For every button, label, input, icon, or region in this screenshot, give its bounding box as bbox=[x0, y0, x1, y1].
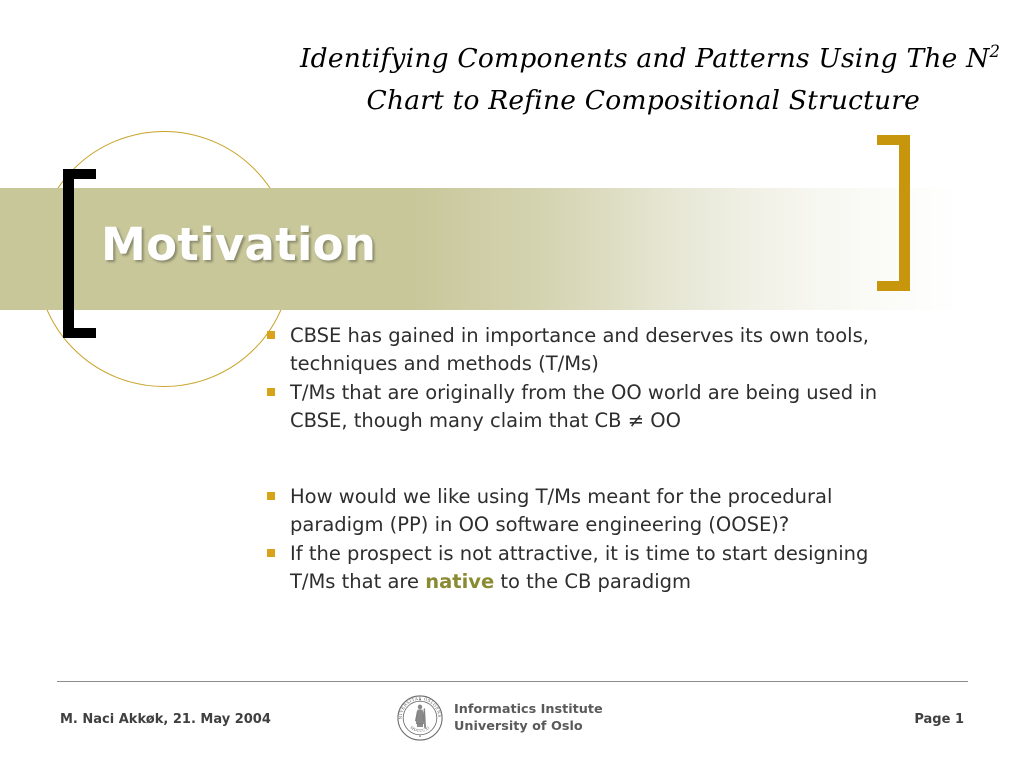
bullet-text: How would we like using T/Ms meant for t… bbox=[290, 485, 832, 536]
footer-page-number: Page 1 bbox=[0, 712, 964, 727]
slide-title: Motivation bbox=[101, 219, 376, 271]
list-item: If the prospect is not attractive, it is… bbox=[264, 540, 910, 595]
bullet-square-icon bbox=[267, 388, 275, 396]
bullet-text: CBSE has gained in importance and deserv… bbox=[290, 324, 869, 375]
list-item: How would we like using T/Ms meant for t… bbox=[264, 483, 910, 538]
left-bracket-decoration bbox=[63, 169, 96, 338]
bullet-square-icon bbox=[267, 549, 275, 557]
bullet-square-icon bbox=[267, 331, 275, 339]
bullet-text-after: to the CB paradigm bbox=[494, 570, 691, 593]
slide-canvas: Identifying Components and Patterns Usin… bbox=[0, 0, 1024, 768]
header-title-superscript: 2 bbox=[990, 42, 1001, 61]
presentation-header-title: Identifying Components and Patterns Usin… bbox=[300, 38, 920, 122]
bullet-square-icon bbox=[267, 492, 275, 500]
header-title-line-1: Identifying Components and Patterns Usin… bbox=[300, 38, 920, 80]
bullet-list: CBSE has gained in importance and deserv… bbox=[264, 322, 910, 597]
bullet-list-spacer bbox=[264, 436, 910, 483]
header-title-line-1-text: Identifying Components and Patterns Usin… bbox=[300, 43, 990, 74]
list-item: T/Ms that are originally from the OO wor… bbox=[264, 379, 910, 434]
list-item: CBSE has gained in importance and deserv… bbox=[264, 322, 910, 377]
bullet-accent-word: native bbox=[425, 570, 494, 593]
bullet-text: T/Ms that are originally from the OO wor… bbox=[290, 381, 877, 432]
right-bracket-decoration bbox=[877, 135, 910, 291]
header-title-line-2: Chart to Refine Compositional Structure bbox=[300, 80, 920, 122]
footer-divider bbox=[57, 681, 968, 682]
